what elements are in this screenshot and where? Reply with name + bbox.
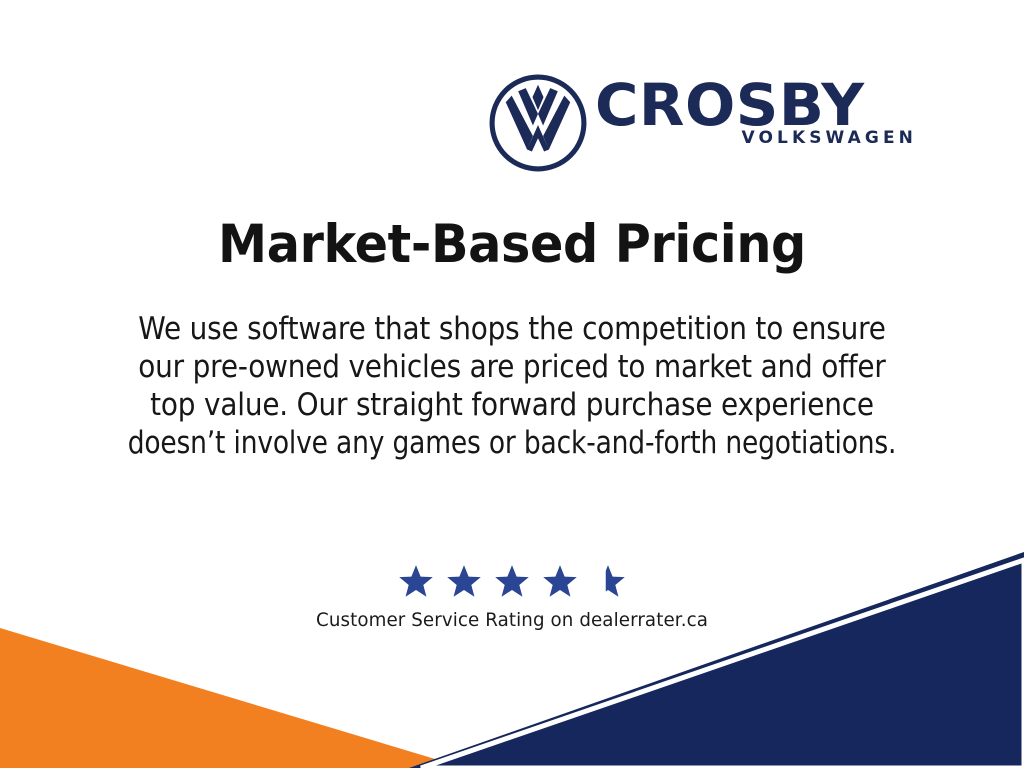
brand-name-text: CROSBY (595, 76, 923, 134)
page-title: Market-Based Pricing (36, 214, 988, 275)
body-line: We use software that shops the competiti… (107, 310, 917, 348)
star-icon (542, 563, 578, 599)
brand-subtitle-text: VOLKSWAGEN (737, 128, 917, 148)
star-icon (446, 563, 482, 599)
star-icon (494, 563, 530, 599)
brand-logo-lockup[interactable]: CROSBY VOLKSWAGEN (487, 72, 917, 172)
body-line: doesn’t involve any games or back-and-fo… (127, 424, 897, 462)
brand-wordmark: CROSBY VOLKSWAGEN (595, 72, 917, 174)
orange-triangle-shape (0, 628, 465, 768)
star-icon (398, 563, 434, 599)
slide-canvas: CROSBY VOLKSWAGEN Market-Based Pricing W… (0, 0, 1024, 768)
half-star-icon (590, 563, 626, 599)
body-line: our pre-owned vehicles are priced to mar… (107, 348, 917, 386)
body-line: top value. Our straight forward purchase… (107, 386, 917, 424)
volkswagen-roundel-icon (487, 72, 589, 174)
customer-rating-block: Customer Service Rating on dealerrater.c… (0, 563, 1024, 631)
star-rating (0, 563, 1024, 603)
rating-caption: Customer Service Rating on dealerrater.c… (20, 609, 1003, 631)
body-paragraph: We use software that shops the competiti… (62, 310, 962, 462)
